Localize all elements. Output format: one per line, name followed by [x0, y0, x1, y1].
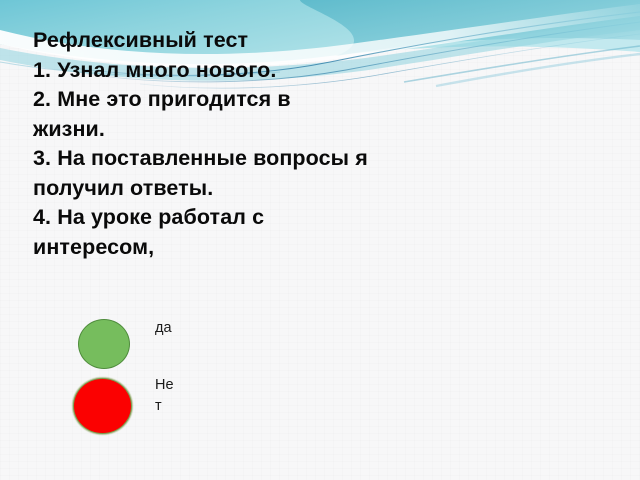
- green-circle-icon[interactable]: [78, 319, 130, 369]
- test-item-3-cont: получил ответы.: [33, 174, 503, 204]
- red-circle-icon[interactable]: [73, 378, 132, 434]
- test-item-2: 2. Мне это пригодится в: [33, 85, 503, 115]
- answer-row-no[interactable]: Нет: [70, 374, 290, 432]
- answer-legend: да Нет: [70, 316, 290, 432]
- answer-row-yes[interactable]: да: [70, 316, 290, 374]
- slide-text-block: Рефлексивный тест 1. Узнал много нового.…: [33, 26, 503, 262]
- test-item-2-cont: жизни.: [33, 115, 503, 145]
- test-item-3: 3. На поставленные вопросы я: [33, 144, 503, 174]
- slide-title: Рефлексивный тест: [33, 26, 503, 56]
- answer-label-yes: да: [155, 318, 177, 339]
- answer-label-no: Нет: [155, 375, 177, 417]
- test-item-4-cont: интересом,: [33, 233, 503, 263]
- presentation-slide: Рефлексивный тест 1. Узнал много нового.…: [0, 0, 640, 480]
- test-item-1: 1. Узнал много нового.: [33, 56, 503, 86]
- test-item-4: 4. На уроке работал с: [33, 203, 503, 233]
